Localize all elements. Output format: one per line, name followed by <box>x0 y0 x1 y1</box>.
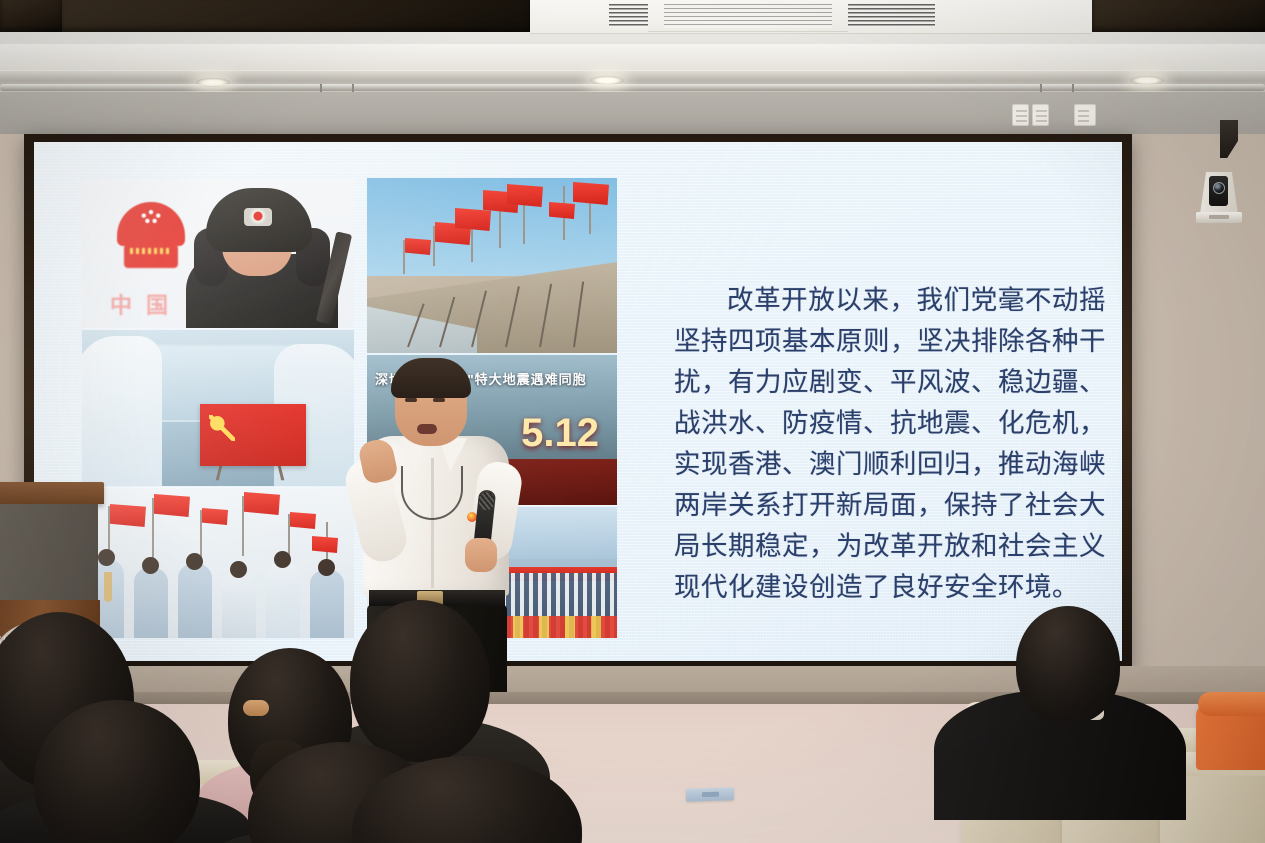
red-flag <box>290 512 316 529</box>
red-flag <box>405 238 431 255</box>
national-emblem <box>112 196 190 274</box>
hair-clip <box>243 700 269 716</box>
recessed-downlight <box>196 78 230 87</box>
photo-handover-celebration-crowd <box>82 488 354 638</box>
surveillance-camera-icon <box>1196 172 1242 224</box>
photo-flood-fighting-red-flags <box>367 178 617 353</box>
floor-outlet-cover <box>686 787 734 801</box>
air-conditioning-vent <box>648 0 848 32</box>
photo-medical-workers-party-flag <box>82 330 354 486</box>
photo-caption-cn: 中国 <box>110 288 182 320</box>
led-screen[interactable]: 中国 <box>34 142 1122 661</box>
slide-body-text: 改革开放以来，我们党毫不动摇坚持四项基本原则，坚决排除各种干扰，有力应剧变、平风… <box>674 280 1106 608</box>
slide-photo-collage: 中国 <box>82 178 617 638</box>
earthquake-date-label: 5.12 <box>521 411 599 456</box>
red-flag <box>202 508 228 525</box>
ppe-worker <box>82 336 162 486</box>
lighting-rail <box>0 84 1265 91</box>
red-flag <box>110 504 146 527</box>
acoustic-ceiling-panel <box>0 0 62 32</box>
wall-outlet <box>1012 104 1029 126</box>
ceiling <box>0 0 1265 46</box>
led-screen-bezel: 中国 <box>24 134 1132 670</box>
red-flag <box>507 184 543 207</box>
red-flag <box>312 536 338 553</box>
lecture-hall-scene: 中国 <box>0 0 1265 843</box>
photo-soldier-national-emblem: 中国 <box>82 178 354 328</box>
red-flag <box>244 492 280 515</box>
wall-outlet <box>1032 104 1049 126</box>
acoustic-ceiling-panel <box>60 0 530 32</box>
red-flag <box>573 182 609 205</box>
acoustic-ceiling-panel <box>1092 0 1265 32</box>
soldier-figure <box>180 182 344 328</box>
fur-hat <box>206 188 312 252</box>
attendee-head <box>350 600 490 762</box>
attendee-head <box>1016 606 1120 724</box>
recessed-downlight <box>590 76 624 85</box>
presenter-right-hand <box>465 538 497 572</box>
recessed-downlight <box>1130 76 1164 85</box>
wall-outlet <box>1074 104 1096 126</box>
red-flag <box>455 208 491 231</box>
seat-headrest <box>1198 692 1265 716</box>
auditorium-seat-accent[interactable] <box>1196 702 1265 770</box>
party-flag <box>200 404 306 466</box>
red-flag <box>154 494 190 517</box>
red-flag <box>549 202 575 219</box>
